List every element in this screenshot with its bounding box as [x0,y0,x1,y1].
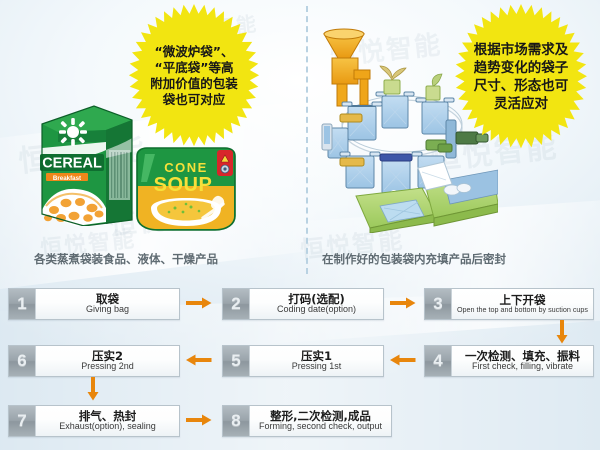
cereal-sub-text: Breakfast [53,175,81,182]
conveyor-left [356,188,436,233]
warning-icon [217,150,233,176]
arrow-1-to-2 [186,297,212,309]
flow-step-2[interactable]: 2 打码(选配) Coding date(option) [222,288,384,320]
step-label-en: Forming, second check, output [259,422,382,432]
step-label: 一次检测、填充、振料 First check, filling, vibrate [452,346,593,376]
highlight-badge-microwave-bag: “微波炉袋”、 “平底袋”等高 附加价值的包装 袋也可对应 [118,2,270,150]
highlight-line: “平底袋”等高 [155,60,234,76]
highlight-line: 根据市场需求及 [474,41,569,59]
arrow-4-to-5 [390,354,416,366]
flow-step-5[interactable]: 5 压实1 Pressing 1st [222,345,384,377]
sun-icon [59,118,87,146]
caption-right: 在制作好的包装袋内充填产品后密封 [322,251,506,267]
hopper [324,29,370,106]
step-label: 压实2 Pressing 2nd [36,346,179,376]
arrow-5-to-6 [186,354,212,366]
step-label: 取袋 Giving bag [36,289,179,319]
highlight-line: “微波炉袋”、 [155,44,234,60]
pouch-station [380,154,412,194]
step-label: 压实1 Pressing 1st [250,346,383,376]
flow-step-6[interactable]: 6 压实2 Pressing 2nd [8,345,180,377]
step-label: 打码(选配) Coding date(option) [250,289,383,319]
highlight-line: 尺寸、形态也可 [474,77,569,95]
step-label-en: Exhaust(option), sealing [59,422,156,432]
highlight-line: 附加价值的包装 [150,76,238,92]
flow-step-1[interactable]: 1 取袋 Giving bag [8,288,180,320]
caption-left: 各类蒸煮袋装食品、液体、干燥产品 [34,251,218,267]
step-number-badge: 1 [9,289,36,319]
product-icon [380,66,406,94]
highlight-badge-flexible-size: 根据市场需求及 趋势变化的袋子 尺寸、形态也可 灵活应对 [444,2,598,152]
infographic-page: 恒悦智能 恒悦智能 恒悦智能 恒悦智能 恒悦智能 恒悦智能 恒悦智能 [0,0,600,450]
arrow-3-to-4 [556,320,568,344]
step-label: 上下开袋 Open the top and bottom by suction … [452,289,593,319]
cereal-brand-text: CEREAL [42,156,102,172]
step-number-badge: 3 [425,289,452,319]
step-label-en: Coding date(option) [277,305,356,315]
step-label-en: Pressing 1st [292,362,342,372]
step-number-badge: 2 [223,289,250,319]
step-label: 整形,二次检测,成品 Forming, second check, output [250,406,391,436]
step-label: 排气、热封 Exhaust(option), sealing [36,406,179,436]
step-number-badge: 5 [223,346,250,376]
step-label-en: Giving bag [86,305,129,315]
arrow-6-to-7 [87,377,99,401]
pouch-station [340,152,380,188]
arrow-7-to-8 [186,414,212,426]
flow-step-8[interactable]: 8 整形,二次检测,成品 Forming, second check, outp… [222,405,392,437]
panel-divider [306,6,308,274]
step-number-badge: 6 [9,346,36,376]
highlight-badge-text: 根据市场需求及 趋势变化的袋子 尺寸、形态也可 灵活应对 [444,2,598,152]
arrow-2-to-3 [390,297,416,309]
step-label-en: First check, filling, vibrate [472,362,573,372]
highlight-badge-text: “微波炉袋”、 “平底袋”等高 附加价值的包装 袋也可对应 [118,2,270,150]
flow-step-3[interactable]: 3 上下开袋 Open the top and bottom by suctio… [424,288,594,320]
soup-line1-text: CONE [164,160,208,175]
step-number-badge: 4 [425,346,452,376]
step-label-en: Open the top and bottom by suction cups [457,306,588,314]
soup-line2-text: SOUP [154,174,213,196]
flow-step-4[interactable]: 4 一次检测、填充、振料 First check, filling, vibra… [424,345,594,377]
highlight-line: 袋也可对应 [163,92,226,108]
step-label-en: Pressing 2nd [81,362,134,372]
step-number-badge: 7 [9,406,36,436]
product-icon [426,74,442,100]
pouch-station [376,92,414,128]
highlight-line: 趋势变化的袋子 [474,59,569,77]
flow-step-7[interactable]: 7 排气、热封 Exhaust(option), sealing [8,405,180,437]
step-number-badge: 8 [223,406,250,436]
highlight-line: 灵活应对 [494,95,548,113]
soup-pouch-illustration: CONE SOUP [131,146,241,232]
